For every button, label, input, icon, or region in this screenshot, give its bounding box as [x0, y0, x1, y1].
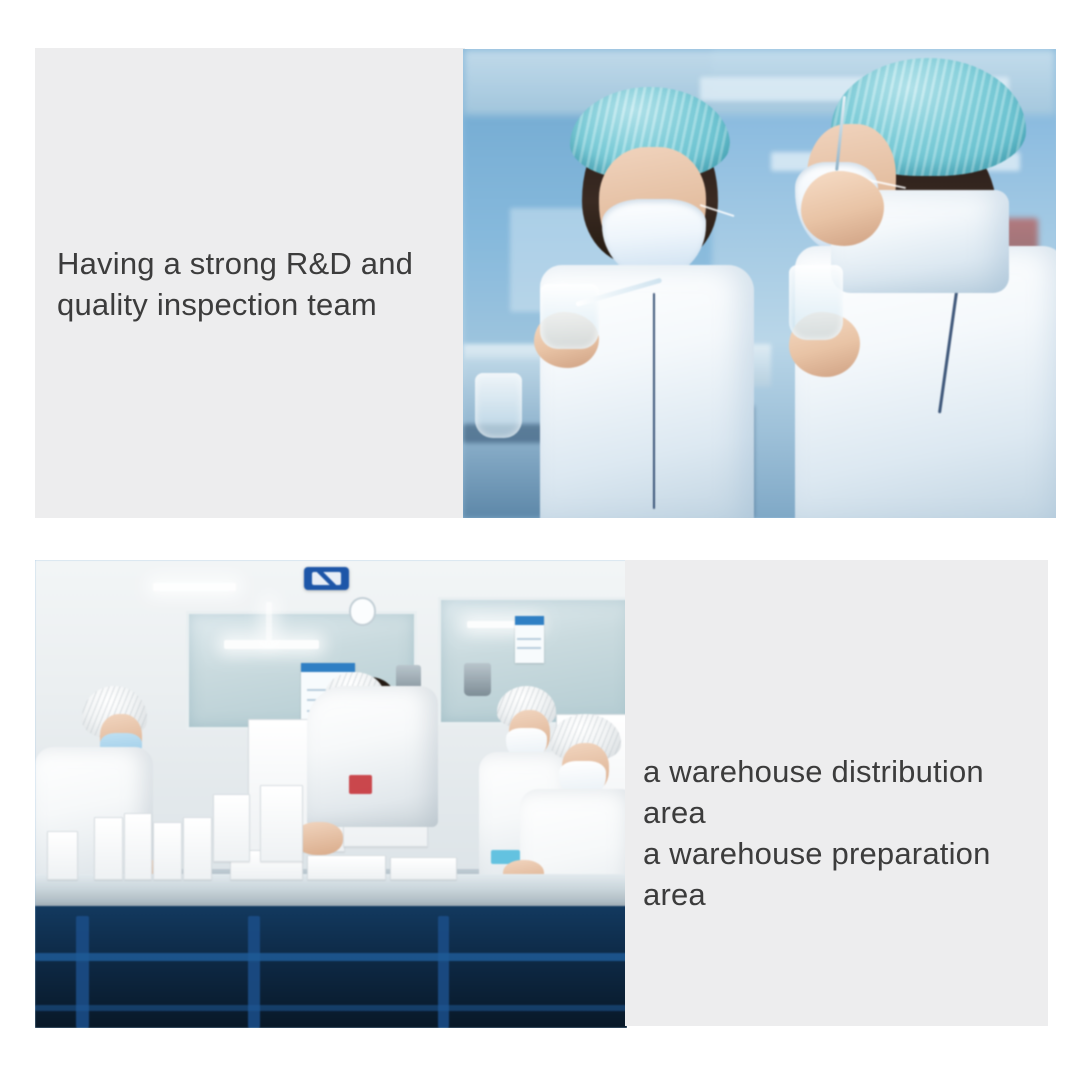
labcoat-trim [653, 293, 655, 509]
sample-bottle [540, 284, 599, 350]
table-leg [438, 916, 450, 1028]
wall-clock [349, 597, 377, 625]
ceiling-light [153, 583, 236, 590]
carton [47, 831, 79, 880]
sample-vial [789, 265, 842, 340]
poster-canvas: Having a strong R&D and quality inspecti… [0, 0, 1080, 1080]
technician-right-hand [801, 171, 884, 246]
beaker [475, 373, 522, 439]
lab-scene [463, 49, 1056, 518]
carton [124, 813, 153, 881]
carton [94, 817, 123, 880]
carton [153, 822, 182, 880]
warehouse-packing-photo [35, 560, 627, 1028]
carton-tall [260, 785, 303, 862]
top-caption-text: Having a strong R&D and quality inspecti… [57, 243, 457, 325]
carton-tall [213, 794, 251, 862]
carton [183, 817, 212, 880]
table-rail [35, 1005, 627, 1012]
table-leg [76, 916, 89, 1028]
table-leg [248, 916, 260, 1028]
carton-flat [307, 855, 386, 880]
lab-inspection-photo [463, 49, 1056, 518]
wall-notice-right [515, 616, 545, 662]
carton-flat [390, 857, 457, 880]
ceiling-light [224, 640, 319, 649]
bottom-caption-text: a warehouse distribution area a warehous… [643, 751, 1043, 915]
worker-white-coat [307, 686, 437, 826]
packing-scene [35, 560, 627, 1028]
steel-container [464, 663, 491, 696]
blue-logo-sign [304, 567, 348, 590]
table-rail [35, 953, 627, 960]
red-item [349, 775, 373, 794]
hanging-strip [266, 602, 272, 639]
